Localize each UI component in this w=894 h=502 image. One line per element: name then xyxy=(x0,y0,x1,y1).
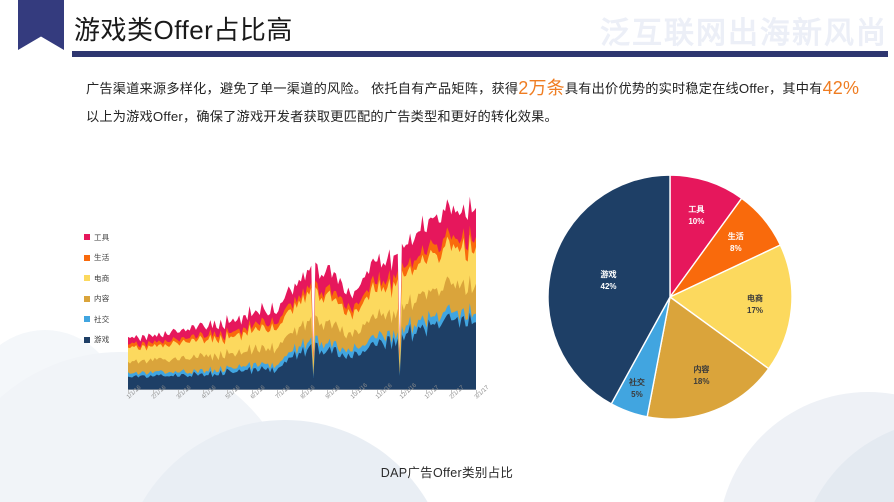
legend-item-label: 生活 xyxy=(94,252,109,263)
pie-label-name: 生活 xyxy=(728,232,744,241)
x-axis-tick-mark xyxy=(426,390,427,394)
body-paragraph: 广告渠道来源多样化，避免了单一渠道的风险。 依托自有产品矩阵，获得2万条具有出价… xyxy=(86,74,868,131)
x-axis-tick-mark xyxy=(302,390,303,394)
pie-label-name: 电商 xyxy=(747,294,763,303)
legend-swatch-icon xyxy=(84,316,90,322)
pie-label-生活: 生活8% xyxy=(710,231,762,255)
legend-swatch-icon xyxy=(84,337,90,343)
legend-swatch-icon xyxy=(84,255,90,261)
legend-item-label: 内容 xyxy=(94,293,109,304)
paragraph-segment-3: 以上为游戏Offer，确保了游戏开发者获取更匹配的广告类型和更好的转化效果。 xyxy=(86,109,558,124)
paragraph-segment-2: 具有出价优势的实时稳定在线Offer，其中有 xyxy=(565,81,823,96)
pie-label-percent: 5% xyxy=(611,389,663,401)
highlight-game-share: 42% xyxy=(823,78,860,98)
x-axis-tick-mark xyxy=(128,390,129,394)
pie-label-内容: 内容18% xyxy=(675,364,727,388)
legend-item-工具: 工具 xyxy=(84,227,109,248)
x-axis-tick-mark xyxy=(401,390,402,394)
legend-item-label: 电商 xyxy=(94,273,109,284)
pie-label-percent: 10% xyxy=(670,216,722,228)
legend-swatch-icon xyxy=(84,275,90,281)
pie-label-游戏: 游戏42% xyxy=(583,269,635,293)
x-axis-tick-mark xyxy=(451,390,452,394)
pie-label-电商: 电商17% xyxy=(729,293,781,317)
pie-label-社交: 社交5% xyxy=(611,377,663,401)
x-axis-tick-mark xyxy=(377,390,378,394)
title-underline-rule xyxy=(72,51,888,57)
legend-item-内容: 内容 xyxy=(84,289,109,310)
pie-chart: 工具10%生活8%电商17%内容18%社交5%游戏42% xyxy=(534,172,806,422)
legend-swatch-icon xyxy=(84,234,90,240)
pie-label-percent: 18% xyxy=(675,376,727,388)
legend-item-游戏: 游戏 xyxy=(84,330,109,351)
pie-label-name: 游戏 xyxy=(601,270,617,279)
x-axis-tick-mark xyxy=(153,390,154,394)
area-chart-legend: 工具生活电商内容社交游戏 xyxy=(84,227,109,350)
legend-item-生活: 生活 xyxy=(84,248,109,269)
chart-caption: DAP广告Offer类别占比 xyxy=(0,462,894,481)
decor-circle-bottom-right-2 xyxy=(798,420,894,502)
page-title: 游戏类Offer占比高 xyxy=(74,10,293,47)
area-chart-x-axis: 1/1/162/1/163/1/164/1/165/1/166/1/167/1/… xyxy=(128,390,476,438)
x-axis-tick-mark xyxy=(476,390,477,394)
ribbon-bookmark-icon xyxy=(18,0,64,50)
highlight-offer-count: 2万条 xyxy=(518,78,565,98)
legend-item-电商: 电商 xyxy=(84,268,109,289)
pie-label-percent: 8% xyxy=(710,243,762,255)
legend-item-label: 游戏 xyxy=(94,334,109,345)
legend-item-label: 工具 xyxy=(94,232,109,243)
x-axis-tick-mark xyxy=(352,390,353,394)
x-axis-tick-mark xyxy=(178,390,179,394)
slide-canvas: 泛互联网出海新风尚 游戏类Offer占比高 广告渠道来源多样化，避免了单一渠道的… xyxy=(0,0,894,502)
pie-label-name: 社交 xyxy=(629,378,645,387)
pie-label-percent: 17% xyxy=(729,305,781,317)
x-axis-tick-mark xyxy=(277,390,278,394)
area-chart-plot xyxy=(128,185,476,390)
x-axis-tick-mark xyxy=(327,390,328,394)
stacked-area-chart: 工具生活电商内容社交游戏 1/1/162/1/163/1/164/1/165/1… xyxy=(78,185,498,425)
legend-item-label: 社交 xyxy=(94,314,109,325)
x-axis-tick-mark xyxy=(252,390,253,394)
pie-label-name: 内容 xyxy=(693,365,709,374)
paragraph-segment-1: 广告渠道来源多样化，避免了单一渠道的风险。 依托自有产品矩阵，获得 xyxy=(86,81,518,96)
pie-label-name: 工具 xyxy=(688,205,704,214)
watermark-text: 泛互联网出海新风尚 xyxy=(600,8,888,52)
pie-label-percent: 42% xyxy=(583,281,635,293)
x-axis-tick-mark xyxy=(227,390,228,394)
legend-swatch-icon xyxy=(84,296,90,302)
x-axis-tick-mark xyxy=(203,390,204,394)
legend-item-社交: 社交 xyxy=(84,309,109,330)
area-chart-svg xyxy=(128,185,476,390)
pie-label-工具: 工具10% xyxy=(670,204,722,228)
